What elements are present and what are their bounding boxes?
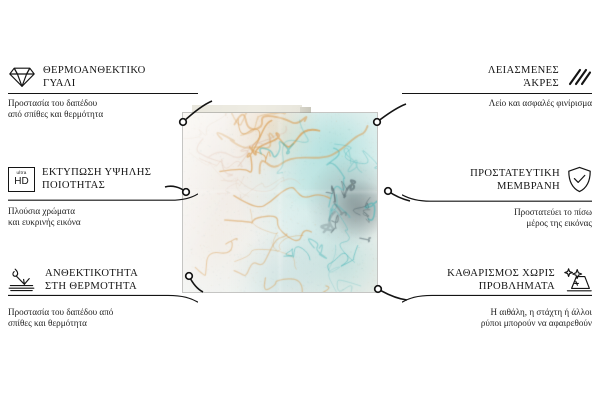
feature-high-quality-print: ultra HD ΕΚΤΥΠΩΣΗ ΥΨΗΛΗΣ ΠΟΙΟΤΗΤΑΣ Πλούσ… [8,166,198,229]
feature-title: ΛΕΙΑΣΜΕΝΕΣ ΆΚΡΕΣ [488,64,559,90]
feature-description: Λείο και ασφαλές φινίρισμα [402,98,592,109]
infographic-canvas: ΘΕΡΜΟΑΝΘΕΚΤΙΚΟ ΓΥΑΛΙ Προστασία του δαπέδ… [0,0,600,400]
feature-description: Πλούσια χρώματα και ευκρινής εικόνα [8,206,198,229]
feature-header: ΠΡΟΣΤΑΤΕΥΤΙΚΗ ΜΕΜΒΡΑΝΗ [402,166,592,193]
shield-check-icon [567,166,592,193]
polished-edges-icon [566,66,592,88]
abstract-marble-artwork [183,113,377,292]
feature-easy-cleaning: ΚΑΘΑΡΙΣΜΟΣ ΧΩΡΙΣ ΠΡΟΒΛΗΜΑΤΑ [402,267,592,330]
feature-title: ΑΝΘΕΚΤΙΚΟΤΗΤΑ ΣΤΗ ΘΕΡΜΟΤΗΤΑ [45,267,138,293]
feature-divider [8,294,198,303]
easy-cleaning-icon [562,267,592,293]
feature-description: Προστασία του δαπέδου από σπίθες και θερ… [8,98,198,121]
feature-description: Η αιθάλη, η στάχτη ή άλλοι ρύποι μπορούν… [402,307,592,330]
printed-glass-panel [183,113,377,292]
feature-title: ΕΚΤΥΠΩΣΗ ΥΨΗΛΗΣ ΠΟΙΟΤΗΤΑΣ [42,166,151,192]
feature-title: ΚΑΘΑΡΙΣΜΟΣ ΧΩΡΙΣ ΠΡΟΒΛΗΜΑΤΑ [447,267,555,293]
diamond-icon [8,65,36,89]
feature-description: Προστατεύει το πίσω μέρος της εικόνας [402,207,592,230]
feature-divider [8,93,198,94]
feature-protective-film: ΠΡΟΣΤΑΤΕΥΤΙΚΗ ΜΕΜΒΡΑΝΗ Προστατεύει το πί… [402,166,592,230]
feature-polished-edges: ΛΕΙΑΣΜΕΝΕΣ ΆΚΡΕΣ Λείο και ασφαλές φινίρι… [402,64,592,109]
feature-title: ΠΡΟΣΤΑΤΕΥΤΙΚΗ ΜΕΜΒΡΑΝΗ [470,167,560,193]
feature-header: ΑΝΘΕΚΤΙΚΟΤΗΤΑ ΣΤΗ ΘΕΡΜΟΤΗΤΑ [8,267,198,293]
feature-header: ΛΕΙΑΣΜΕΝΕΣ ΆΚΡΕΣ [402,64,592,90]
feature-heat-durability: ΑΝΘΕΚΤΙΚΟΤΗΤΑ ΣΤΗ ΘΕΡΜΟΤΗΤΑ Προστασία το… [8,267,198,330]
heat-resistant-icon [8,267,38,293]
feature-divider [402,93,592,94]
feature-header: ΘΕΡΜΟΑΝΘΕΚΤΙΚΟ ΓΥΑΛΙ [8,64,198,90]
ultra-hd-bottom-label: HD [14,177,28,187]
feature-header: ΚΑΘΑΡΙΣΜΟΣ ΧΩΡΙΣ ΠΡΟΒΛΗΜΑΤΑ [402,267,592,293]
ultra-hd-icon: ultra HD [8,167,35,192]
feature-divider [8,193,198,202]
feature-heat-resistant-glass: ΘΕΡΜΟΑΝΘΕΚΤΙΚΟ ΓΥΑΛΙ Προστασία του δαπέδ… [8,64,198,121]
feature-header: ultra HD ΕΚΤΥΠΩΣΗ ΥΨΗΛΗΣ ΠΟΙΟΤΗΤΑΣ [8,166,198,192]
feature-divider [402,194,592,203]
feature-title: ΘΕΡΜΟΑΝΘΕΚΤΙΚΟ ΓΥΑΛΙ [43,64,146,90]
feature-divider [402,294,592,303]
feature-description: Προστασία του δαπέδου από σπίθες και θερ… [8,307,198,330]
